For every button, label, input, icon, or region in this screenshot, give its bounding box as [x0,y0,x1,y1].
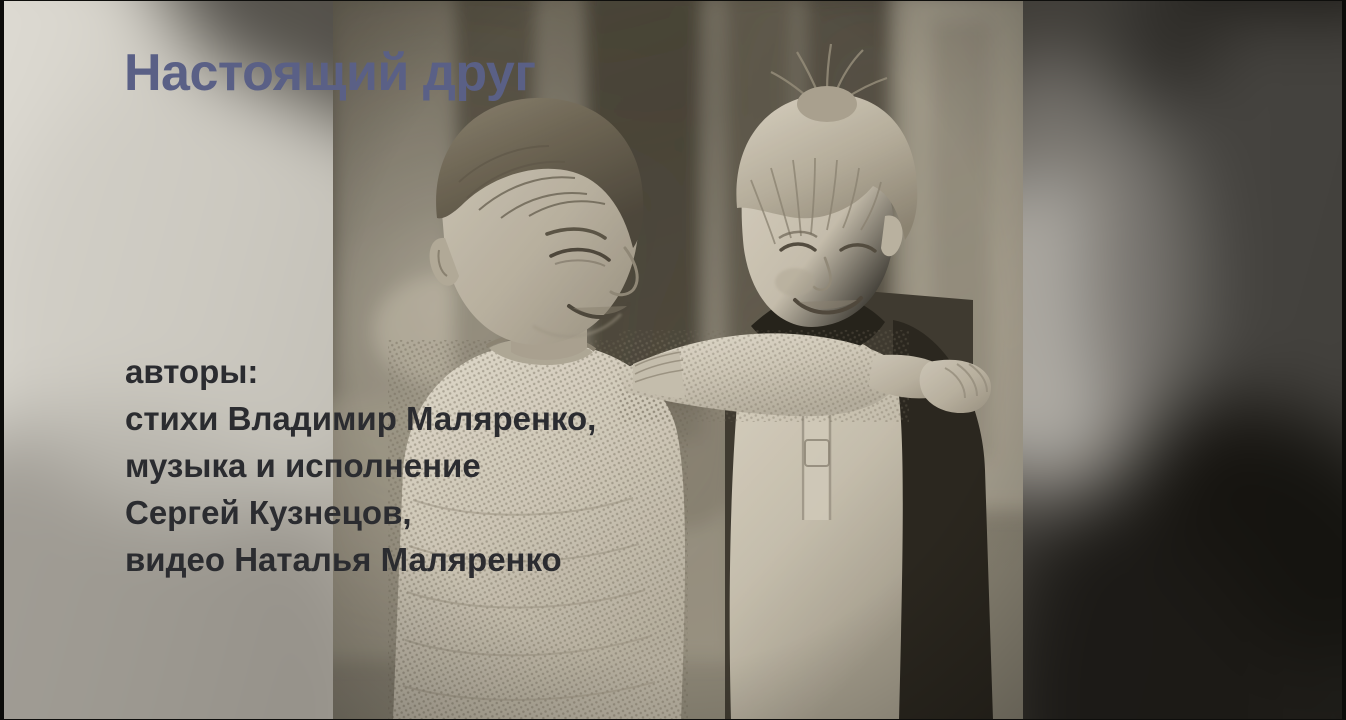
credits-line-performer: Сергей Кузнецов, [125,489,596,536]
credits-line-music: музыка и исполнение [125,442,596,489]
credits-block: авторы: стихи Владимир Маляренко, музыка… [125,348,596,583]
page-title: Настоящий друг [124,45,536,101]
credits-heading: авторы: [125,348,596,395]
credits-line-lyrics: стихи Владимир Маляренко, [125,395,596,442]
credits-line-video: видео Наталья Маляренко [125,536,596,583]
video-slide: Настоящий друг авторы: стихи Владимир Ма… [0,0,1346,720]
text-overlay: Настоящий друг авторы: стихи Владимир Ма… [0,0,1346,720]
